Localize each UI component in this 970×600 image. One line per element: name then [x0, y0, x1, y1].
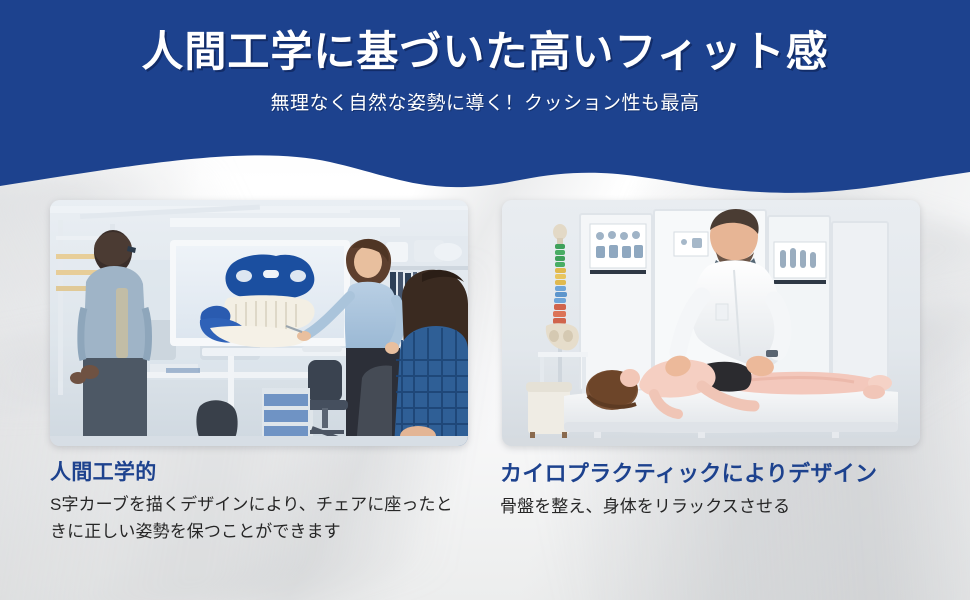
chiropractic-treatment-photo: [502, 200, 920, 446]
caption-heading: カイロプラクティックによりデザイン: [500, 460, 940, 488]
caption-row: 人間工学的 S字カーブを描くデザインにより、チェアに座ったときに正しい姿勢を保つ…: [0, 460, 970, 600]
header-wave-shape: [0, 0, 970, 200]
product-feature-banner: 人間工学に基づいた高いフィット感 無理なく自然な姿勢に導く！クッション性も最高: [0, 0, 970, 600]
caption-chiropractic: カイロプラクティックによりデザイン 骨盤を整え、身体をリラックスさせる: [500, 460, 940, 520]
caption-ergonomic: 人間工学的 S字カーブを描くデザインにより、チェアに座ったときに正しい姿勢を保つ…: [50, 460, 480, 545]
ergonomic-presentation-photo: [50, 200, 468, 446]
caption-body: S字カーブを描くデザインにより、チェアに座ったときに正しい姿勢を保つことができま…: [50, 492, 468, 545]
photo-card-row: [50, 200, 920, 446]
caption-body: 骨盤を整え、身体をリラックスさせる: [500, 494, 940, 520]
header-band: 人間工学に基づいた高いフィット感 無理なく自然な姿勢に導く！クッション性も最高: [0, 0, 970, 200]
caption-heading: 人間工学的: [50, 460, 480, 486]
